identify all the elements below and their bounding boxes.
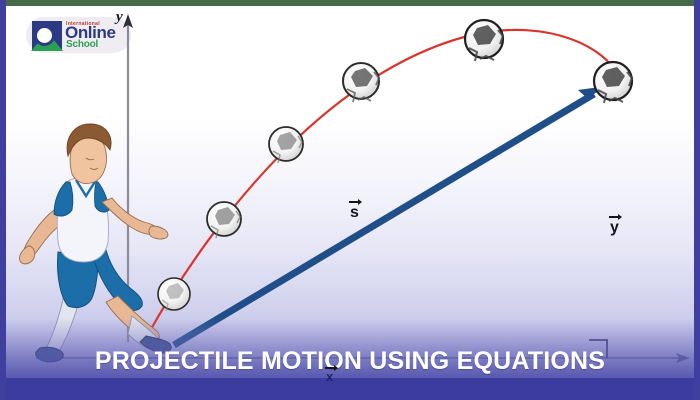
footer-bar (0, 378, 700, 400)
soccer-player-figure (19, 124, 171, 362)
ball-3 (269, 127, 303, 163)
vector-arrow-overbar-s (349, 198, 362, 205)
page-title: PROJECTILE MOTION USING EQUATIONS (0, 347, 700, 376)
frame-left-strip (0, 0, 6, 400)
displacement-vector-label: s (350, 204, 359, 222)
y-component-label: y (610, 219, 619, 237)
vector-arrow-overbar-y (609, 213, 622, 220)
ball-1 (158, 278, 190, 311)
frame-right-strip (694, 0, 700, 400)
y-axis-label: y (116, 9, 123, 26)
vector-arrow-overbar-x (325, 364, 338, 371)
x-axis-letter: x (326, 369, 333, 384)
ball-2 (207, 202, 241, 238)
ball-group (158, 20, 632, 311)
displacement-vector-letter: s (350, 204, 359, 221)
y-component-letter: y (610, 219, 619, 236)
illustration-canvas: International Online School (6, 6, 694, 400)
ball-5 (465, 20, 503, 61)
trajectory-path (146, 30, 618, 338)
logo-ring-icon (34, 25, 55, 46)
ball-6 (594, 62, 632, 103)
illustration-screenshot: International Online School (0, 0, 700, 400)
x-axis-vector-label: x (326, 368, 333, 386)
